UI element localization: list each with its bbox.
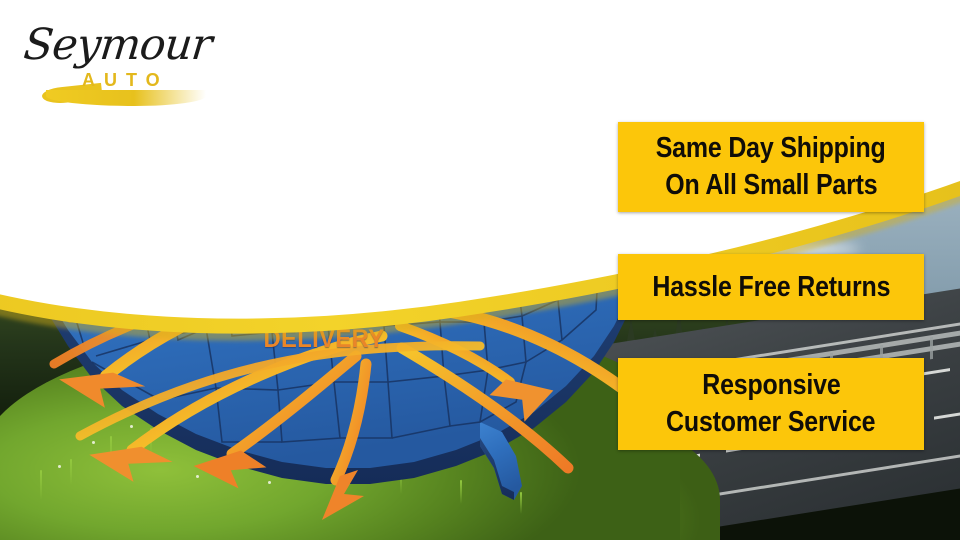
brand-logo[interactable]: Seymour AUTO: [18, 14, 248, 110]
logo-subtitle: AUTO: [82, 70, 169, 91]
callout-responsive-customer-service: Responsive Customer Service: [618, 358, 924, 450]
logo-swoosh: [46, 90, 206, 106]
callout-2-line-1: Hassle Free Returns: [652, 270, 890, 305]
callout-1-line-2: On All Small Parts: [665, 167, 877, 204]
logo-name: Seymour: [21, 20, 213, 70]
marketing-banner: NATIONWIDE DELIVERY Seymour AUTO Same Da…: [0, 0, 960, 540]
callout-same-day-shipping: Same Day Shipping On All Small Parts: [618, 122, 924, 212]
callout-hassle-free-returns: Hassle Free Returns: [618, 254, 924, 320]
callout-3-line-1: Responsive: [702, 367, 840, 404]
callout-1-line-1: Same Day Shipping: [656, 130, 886, 167]
callout-3-line-2: Customer Service: [666, 404, 875, 441]
